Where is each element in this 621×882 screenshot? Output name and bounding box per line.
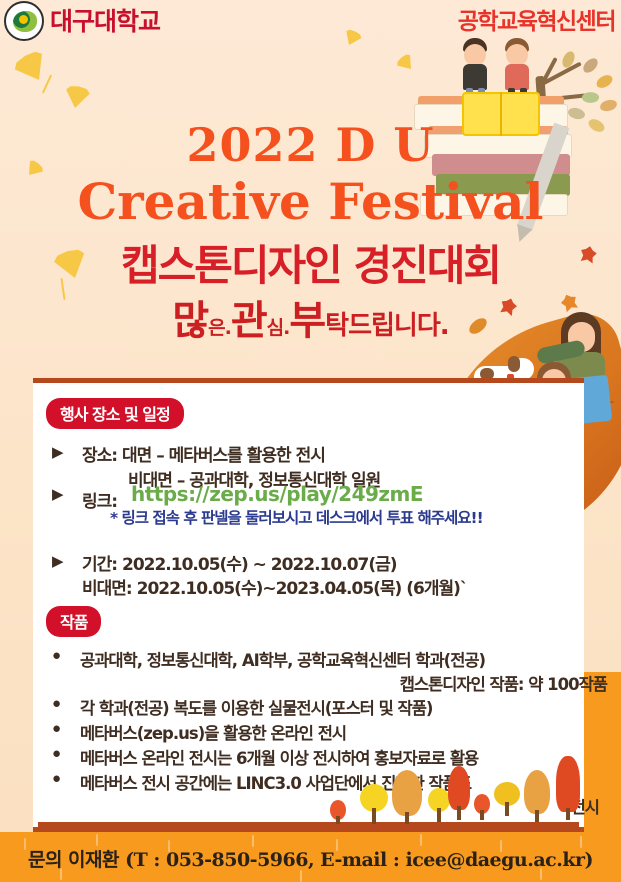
tree-trunk (505, 802, 509, 816)
title-line-3: 캡스톤디자인 경진대회 (0, 232, 621, 293)
title-l4-big3: 부 (289, 298, 325, 344)
tree-trunk (372, 808, 376, 824)
contact-info: 문의 이재환 (T : 053-850-5966, E-mail : icee@… (0, 845, 621, 872)
university-name: 대구대학교 (50, 2, 160, 38)
bullet-dot-icon: ● (52, 720, 61, 737)
body (463, 64, 487, 90)
tree-trunk (480, 810, 484, 820)
title-l4-small3: 탁드립니다. (325, 311, 448, 341)
leaf-stem (42, 75, 52, 94)
bullet-triangle-icon: ▶ (52, 552, 64, 570)
title-l4-big1: 많 (172, 298, 208, 344)
tree-trunk (336, 816, 340, 824)
title-line-2: Creative Festival (0, 172, 621, 231)
tree-canopy (524, 770, 550, 814)
ginkgo-leaf-icon (341, 28, 364, 49)
tree-leaf-icon (600, 99, 618, 111)
title-l4-small1: 은. (208, 317, 231, 339)
schedule-row-period: 기간: 2022.10.05(수) ~ 2022.10.07(금) (82, 550, 397, 575)
footer-bar: 문의 이재환 (T : 053-850-5966, E-mail : icee@… (0, 832, 621, 882)
schedule-row-period-online: 비대면: 2022.10.05(수)~2023.04.05(목) (6개월)` (82, 574, 467, 599)
bullet-dot-icon: ● (52, 647, 61, 664)
tree-canopy (556, 756, 580, 812)
tree-leaf-icon (595, 73, 615, 89)
university-logo-icon (4, 1, 44, 41)
tree-canopy (448, 766, 470, 810)
badge-schedule: 행사 장소 및 일정 (46, 398, 184, 429)
bullet-triangle-icon: ▶ (52, 485, 64, 503)
tree-trunk (457, 806, 461, 820)
tree-leaf-icon (580, 56, 600, 75)
event-link[interactable]: https://zep.us/play/249zmE (131, 482, 423, 506)
head (506, 44, 528, 66)
work-item-1: 공과대학, 정보통신대학, AI학부, 공학교육혁신센터 학과(전공) (80, 647, 485, 671)
body (505, 64, 529, 90)
head (464, 44, 486, 66)
vote-note: * 링크 접속 후 판넬을 둘러보시고 데스크에서 투표 해주세요!! (110, 506, 483, 528)
title-l4-small2: 심. (267, 317, 290, 339)
work-item-3: 메타버스(zep.us)을 활용한 온라인 전시 (80, 720, 346, 744)
dog-ear (508, 356, 520, 372)
tree-canopy (392, 770, 422, 816)
bullet-dot-icon: ● (52, 695, 61, 712)
schedule-row-venue: 장소: 대면 – 메타버스를 활용한 전시 (82, 441, 325, 466)
tree-trunk (405, 812, 409, 824)
title-line-1: 2022 D U (0, 118, 621, 172)
badge-works: 작품 (46, 606, 101, 637)
section-schedule: 행사 장소 및 일정 (46, 398, 184, 429)
work-item-4: 메타버스 온라인 전시는 6개월 이상 전시하여 홍보자료로 활용 (80, 745, 478, 769)
ginkgo-leaf-icon (62, 84, 91, 110)
section-works: 작품 (46, 606, 101, 637)
bullet-dot-icon: ● (52, 770, 61, 787)
tree-trunk (437, 808, 441, 822)
poster-canvas: 대구대학교 공학교육혁신센터 (0, 0, 621, 882)
tree-ground-line (38, 822, 579, 827)
work-item-2: 각 학과(전공) 복도를 이용한 실물전시(포스터 및 작품) (80, 695, 432, 719)
title-l4-big2: 관 (231, 298, 267, 344)
work-item-1-line2: 캡스톤디자인 작품: 약 100작품 (400, 671, 607, 695)
bullet-triangle-icon: ▶ (52, 443, 64, 461)
tree-leaf-icon (581, 91, 600, 105)
bullet-dot-icon: ● (52, 745, 61, 762)
tree-trunk (566, 808, 570, 820)
tree-trunk (535, 810, 539, 822)
